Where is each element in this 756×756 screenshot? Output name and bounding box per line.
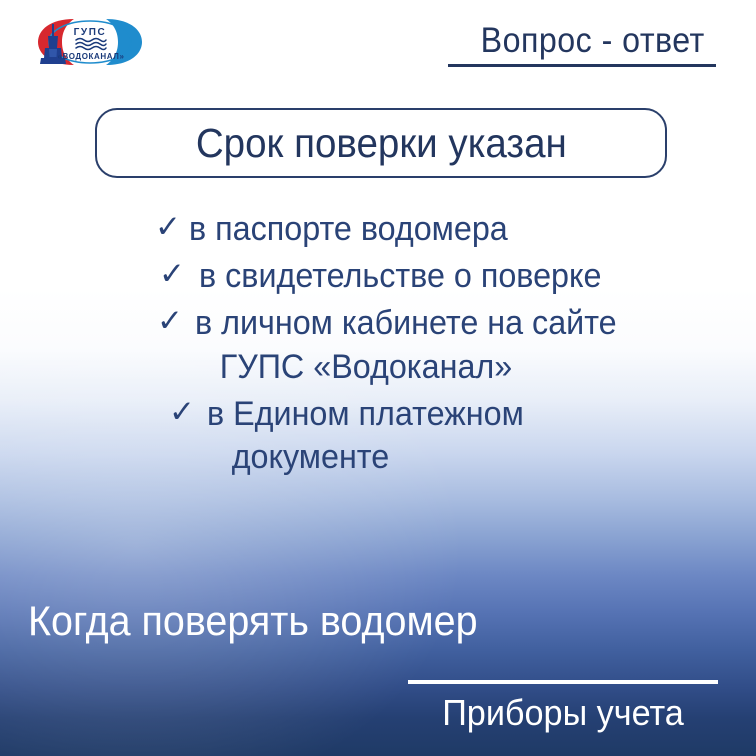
footer-group: Приборы учета	[408, 680, 718, 734]
footer-divider	[408, 680, 718, 684]
list-item-line2: документе	[232, 436, 524, 479]
qa-heading-underline	[448, 64, 716, 67]
check-icon: ✓	[159, 255, 193, 294]
svg-text:«ВОДОКАНАЛ»: «ВОДОКАНАЛ»	[57, 52, 124, 61]
list-item-line1: в свидетельстве о поверке	[199, 257, 601, 295]
check-icon: ✓	[155, 208, 189, 247]
list-item: ✓ в Едином платежном документе	[155, 393, 695, 479]
list-item: ✓ в личном кабинете на сайте ГУПС «Водок…	[155, 302, 695, 388]
vodokanal-logo-icon: ГУПС «ВОДОКАНАЛ»	[28, 14, 152, 70]
qa-heading: Вопрос - ответ	[469, 22, 716, 61]
bottom-headline: Когда поверять водомер	[28, 597, 478, 645]
list-item: ✓ в свидетельстве о поверке	[155, 255, 695, 298]
list-item-label: в Едином платежном документе	[207, 393, 524, 479]
qa-heading-group: Вопрос - ответ	[448, 22, 716, 67]
list-item-label: в свидетельстве о поверке	[199, 255, 601, 298]
list-item: ✓ в паспорте водомера	[155, 208, 695, 251]
title-box: Срок поверки указан	[95, 108, 667, 178]
page-header: ГУПС «ВОДОКАНАЛ» Вопрос - ответ	[0, 0, 756, 100]
footer-label: Приборы учета	[416, 692, 711, 734]
list-item-line2: ГУПС «Водоканал»	[220, 346, 617, 389]
check-icon: ✓	[157, 302, 191, 341]
svg-text:ГУПС: ГУПС	[74, 27, 107, 38]
list-item-line1: в личном кабинете на сайте	[195, 304, 617, 342]
list-item-label: в личном кабинете на сайте ГУПС «Водокан…	[195, 302, 617, 388]
list-item-line1: в Едином платежном	[207, 395, 524, 433]
title-text: Срок поверки указан	[196, 120, 567, 167]
check-icon: ✓	[169, 393, 203, 432]
list-item-label: в паспорте водомера	[189, 208, 508, 251]
list-item-line1: в паспорте водомера	[189, 210, 508, 248]
checklist: ✓ в паспорте водомера ✓ в свидетельстве …	[155, 208, 695, 483]
